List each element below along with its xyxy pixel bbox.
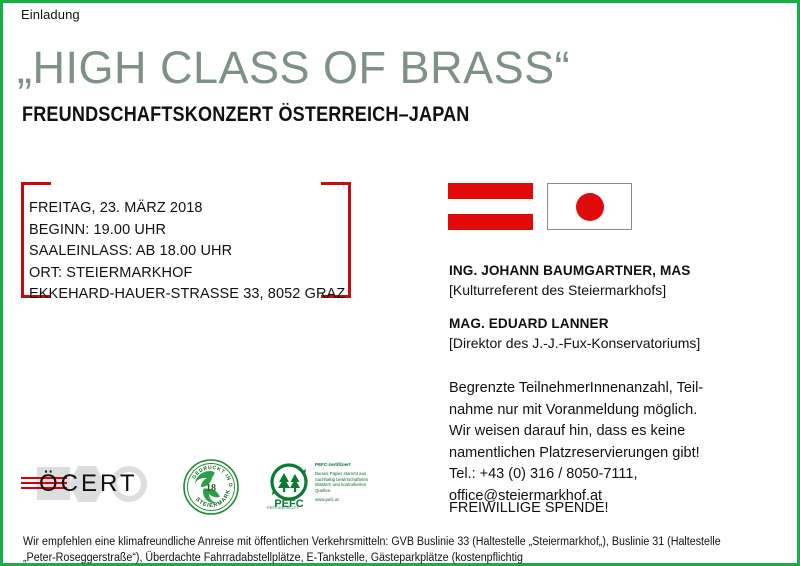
bracket-corner-top-left [21,182,51,185]
registration-info: Begrenzte TeilnehmerInnenanzahl, Teil- n… [449,378,703,507]
bracket-left-edge [21,182,24,298]
invitation-page: Einladung „HIGH CLASS OF BRASS“ FREUNDSC… [0,0,800,566]
event-detail-line: EKKEHARD-HAUER-STRASSE 33, 8052 GRAZ [29,284,345,306]
bracket-corner-top-right [321,182,351,185]
event-details: FREITAG, 23. MÄRZ 2018 BEGINN: 19.00 UHR… [29,198,345,306]
bracket-right-edge [348,182,351,298]
steiermark-print-seal: 18 GEDRUCKT IN DER STEIERMARK [181,457,241,517]
eyebrow-label: Einladung [21,7,80,22]
info-line: namentlichen Platzreservierungen gibt! [449,443,703,465]
ocert-logo: ÖCERT [21,463,151,509]
svg-text:18: 18 [206,483,216,494]
event-detail-line: BEGINN: 19.00 UHR [29,220,345,242]
footer-line-1: Wir empfehlen eine klimafreundliche Anre… [23,534,800,550]
info-line: Wir weisen darauf hin, dass es keine [449,421,703,443]
pefc-body: Dieses Papier stammt aus nachhaltig bewi… [315,471,375,493]
austria-flag [448,183,533,230]
japan-flag [547,183,632,230]
contact-name: ING. JOHANN BAUMGARTNER, MAS [449,261,700,280]
event-detail-line: SAALEINLASS: AB 18.00 UHR [29,241,345,263]
contact-role: [Direktor des J.-J.-Fux-Konservatoriums] [449,333,700,353]
page-title: „HIGH CLASS OF BRASS“ [17,45,570,90]
footer-note: Wir empfehlen eine klimafreundliche Anre… [23,534,800,566]
pefc-code: PEFC/06-39-277 [267,505,298,510]
contacts-block: ING. JOHANN BAUMGARTNER, MAS [Kulturrefe… [449,261,700,353]
pefc-url: www.pefc.at [315,497,375,502]
donation-note: FREIWILLIGE SPENDE! [449,500,609,516]
event-detail-line: ORT: STEIERMARKHOF [29,263,345,285]
page-subtitle: FREUNDSCHAFTSKONZERT ÖSTERREICH–JAPAN [22,103,470,127]
event-detail-line: FREITAG, 23. MÄRZ 2018 [29,198,345,220]
info-line: Begrenzte TeilnehmerInnenanzahl, Teil- [449,378,703,400]
info-line: nahme nur mit Voranmeldung möglich. [449,400,703,422]
contacts-spacer [449,300,700,314]
info-phone: Tel.: +43 (0) 316 / 8050-7111, [449,464,703,486]
japan-sun-disc [576,193,604,221]
pefc-text-block: PEFC-zertifiziert Dieses Papier stammt a… [315,461,375,502]
footer-line-2: „Peter-Roseggerstraße“), Überdachte Fahr… [23,550,800,566]
pefc-logo: PEFC PEFC/06-39-277 PEFC-zertifiziert Di… [267,461,371,513]
contact-name: MAG. EDUARD LANNER [449,314,700,333]
contact-role: [Kulturreferent des Steiermarkhofs] [449,280,700,300]
pefc-mark-icon: PEFC [267,463,311,511]
ocert-wordmark: ÖCERT [39,468,138,500]
pefc-title: PEFC-zertifiziert [315,461,375,468]
